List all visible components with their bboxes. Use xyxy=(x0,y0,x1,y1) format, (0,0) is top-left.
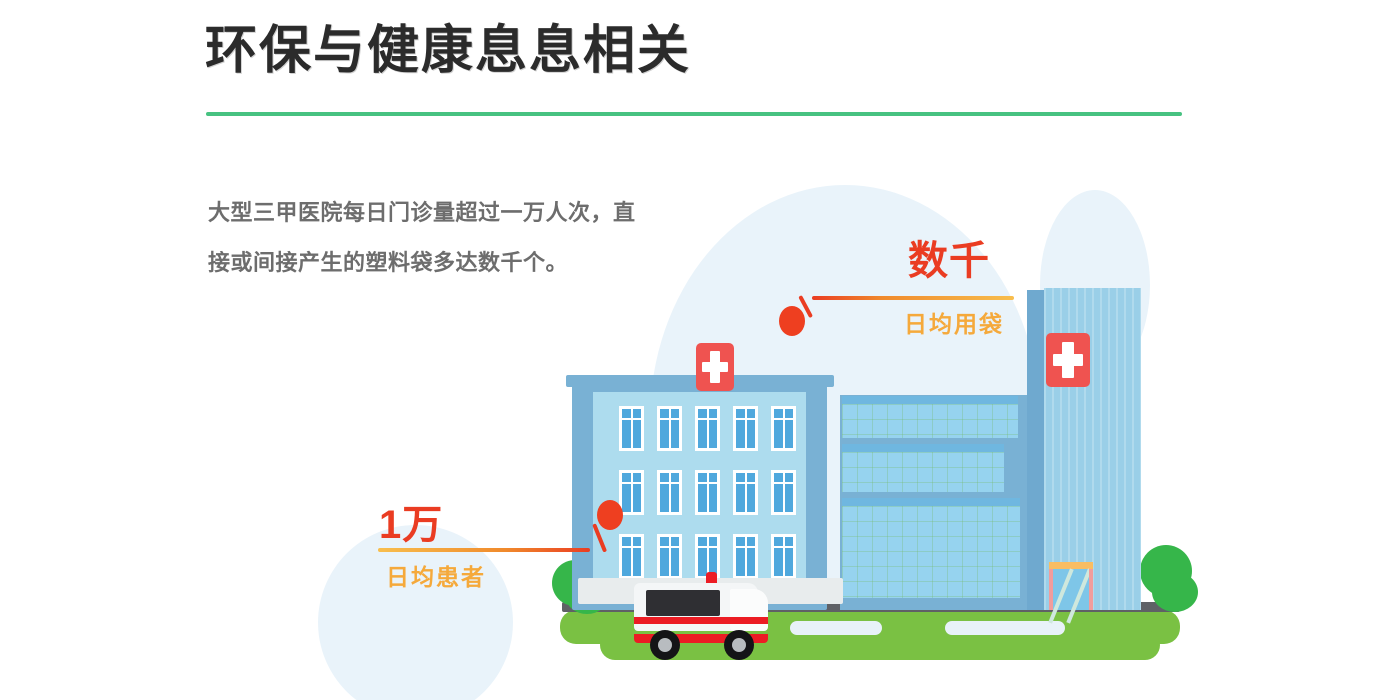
road-marking xyxy=(945,621,1065,635)
red-cross-icon xyxy=(1046,333,1090,387)
ambulance-wheel xyxy=(650,630,680,660)
ambulance-stripe xyxy=(634,617,768,624)
hospital-illustration xyxy=(0,0,1400,700)
window xyxy=(733,534,758,579)
red-cross-icon xyxy=(696,343,734,391)
glass-panel xyxy=(842,506,1020,598)
window xyxy=(733,470,758,515)
window xyxy=(619,534,644,579)
slide-root: 环保与健康息息相关 大型三甲医院每日门诊量超过一万人次，直接或间接产生的塑料袋多… xyxy=(0,0,1400,700)
window xyxy=(619,406,644,451)
callout-label-daily-bags: 日均用袋 xyxy=(904,305,1004,339)
window xyxy=(619,470,644,515)
window xyxy=(657,406,682,451)
glass-panel xyxy=(842,452,1004,492)
road-marking xyxy=(790,621,882,635)
window xyxy=(771,406,796,451)
ambulance-cab xyxy=(730,589,768,631)
tower-side-wall xyxy=(1027,290,1044,610)
callout-value-daily-patients: 1万 xyxy=(379,492,443,550)
ambulance-window xyxy=(646,590,720,616)
callout-dot-daily-patients xyxy=(597,500,623,530)
bush-right xyxy=(1152,572,1198,612)
glass-panel xyxy=(842,404,1018,438)
window xyxy=(657,470,682,515)
window xyxy=(771,470,796,515)
window xyxy=(771,534,796,579)
window xyxy=(695,470,720,515)
callout-dot-daily-bags xyxy=(779,306,805,336)
window xyxy=(695,406,720,451)
tower-entrance-door xyxy=(1049,562,1093,610)
callout-value-daily-bags: 数千 xyxy=(908,228,990,286)
window xyxy=(733,406,758,451)
window xyxy=(657,534,682,579)
ambulance-wheel xyxy=(724,630,754,660)
callout-label-daily-patients: 日均患者 xyxy=(386,558,486,592)
callout-rule-daily-bags xyxy=(812,296,1014,300)
